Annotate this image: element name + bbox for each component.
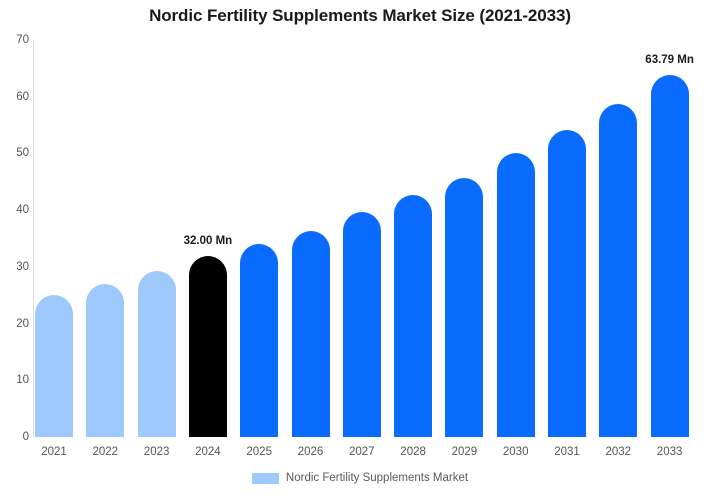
y-axis-tick-label: 70	[3, 34, 29, 46]
bar-2026[interactable]	[292, 231, 330, 437]
bar-value-label-2033: 63.79 Mn	[645, 54, 694, 66]
y-axis-tick-label: 30	[3, 261, 29, 273]
bar-2033[interactable]	[651, 75, 689, 437]
bar-chart: Nordic Fertility Supplements Market Size…	[0, 0, 720, 500]
y-axis-tick-label: 10	[3, 374, 29, 386]
legend-label: Nordic Fertility Supplements Market	[286, 472, 468, 484]
chart-legend: Nordic Fertility Supplements Market	[0, 472, 720, 484]
bar-2027[interactable]	[343, 212, 381, 437]
y-axis-tick-label: 60	[3, 91, 29, 103]
plot-area	[33, 40, 710, 437]
y-axis-tick-label: 0	[3, 431, 29, 443]
y-axis-tick-label: 50	[3, 147, 29, 159]
legend-swatch-icon	[252, 473, 279, 484]
bar-2022[interactable]	[86, 284, 124, 437]
y-axis: 010203040506070	[0, 0, 29, 500]
bar-2023[interactable]	[138, 271, 176, 437]
bar-2021[interactable]	[35, 295, 73, 437]
bar-2031[interactable]	[548, 130, 586, 437]
bar-2030[interactable]	[497, 153, 535, 437]
bar-2024[interactable]	[189, 256, 227, 437]
chart-title: Nordic Fertility Supplements Market Size…	[0, 6, 720, 26]
x-axis-tick-label: 2033	[640, 446, 700, 458]
bar-value-label-2024: 32.00 Mn	[184, 235, 233, 247]
bar-2032[interactable]	[599, 104, 637, 437]
bar-2029[interactable]	[445, 178, 483, 437]
y-axis-tick-label: 40	[3, 204, 29, 216]
bar-2028[interactable]	[394, 195, 432, 437]
bar-2025[interactable]	[240, 244, 278, 437]
y-axis-tick-label: 20	[3, 318, 29, 330]
